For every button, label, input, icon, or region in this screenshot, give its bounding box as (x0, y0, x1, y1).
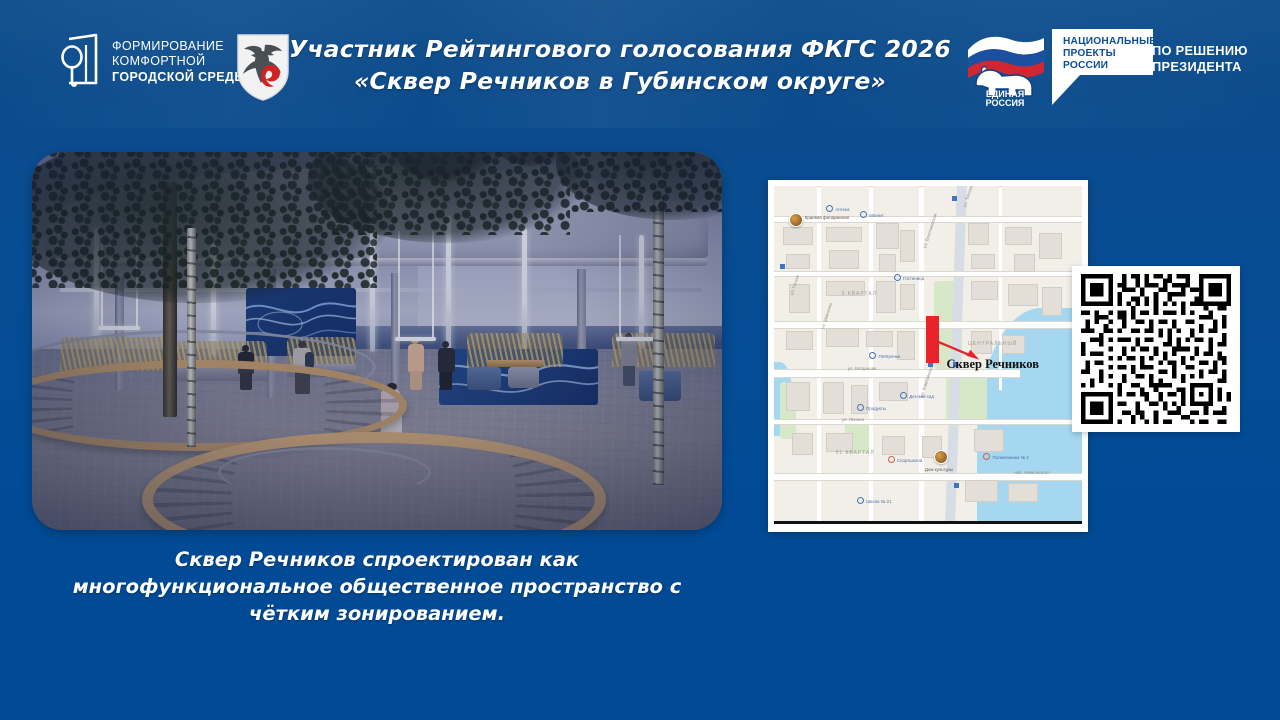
fkgs-logo-text: ФОРМИРОВАНИЕ КОМФОРТНОЙ ГОРОДСКОЙ СРЕДЫ (112, 39, 247, 86)
map-photo-pin[interactable] (934, 450, 948, 464)
qr-code-icon[interactable] (1080, 274, 1232, 424)
project-render-image (32, 152, 722, 530)
united-russia-bear-logo-icon: ЕДИНАЯ РОССИЯ (962, 28, 1048, 106)
map-poi[interactable]: Спортшкола (888, 456, 922, 463)
title-line-2: «Сквер Речников в Губинском округе» (285, 65, 955, 97)
map-poi[interactable]: Магнит (860, 211, 884, 218)
map-pin-label: Краевая филармония (805, 215, 849, 220)
render-bench-railing (218, 447, 431, 498)
render-swing-seat (98, 326, 139, 330)
poi-dot-icon (869, 352, 876, 359)
map-poi[interactable]: Поликлиника № 2 (983, 453, 1028, 460)
np-line-1: НАЦИОНАЛЬНЫЕ (1063, 36, 1149, 48)
render-swing-seat (395, 337, 436, 341)
map-district-label: 5 КВАРТАЛ (842, 291, 877, 297)
render-swing-seat (616, 337, 657, 341)
coat-of-arms-shield-icon (234, 31, 292, 103)
render-swing-rope (398, 231, 400, 337)
poi-dot-icon (888, 456, 895, 463)
render-person (436, 341, 458, 390)
map-street-label: наб. Невельского (1014, 470, 1049, 475)
poi-dot-icon (983, 453, 990, 460)
header-bar: ФОРМИРОВАНИЕ КОМФОРТНОЙ ГОРОДСКОЙ СРЕДЫ (0, 0, 1280, 128)
render-swing-rope (432, 231, 434, 337)
map-transit-marker (780, 264, 785, 269)
location-map[interactable]: ул. Гоголя ул. Шевченко ул. Волочаевская… (768, 180, 1088, 532)
map-site-label: Сквер Речников (946, 357, 1039, 372)
poi-dot-icon (900, 392, 907, 399)
map-road (774, 419, 1082, 425)
render-wood-bench (487, 360, 542, 368)
map-bottom-bar (774, 521, 1082, 524)
render-stool (508, 367, 539, 388)
map-poi[interactable]: Детский сад (900, 392, 934, 399)
project-description-caption: Сквер Речников спроектирован как многофу… (40, 546, 714, 627)
map-transit-marker (952, 196, 957, 201)
poi-dot-icon (860, 211, 867, 218)
map-poi[interactable]: Пятёрочка (869, 352, 900, 359)
poi-dot-icon (826, 205, 833, 212)
render-birch-trunk (187, 228, 196, 447)
fkgs-line-2: КОМФОРТНОЙ (112, 54, 247, 70)
map-district-label: 51 КВАРТАЛ (836, 450, 875, 456)
map-photo-pin[interactable] (789, 213, 803, 227)
map-poi[interactable]: Школа № 21 (857, 497, 891, 504)
poi-dot-icon (894, 274, 901, 281)
united-russia-line2: РОССИЯ (986, 98, 1025, 106)
map-street-label: ул. Богданова (848, 366, 876, 371)
voting-qr-code[interactable] (1072, 266, 1240, 432)
caption-line-1: Сквер Речников спроектирован как (40, 546, 714, 573)
map-poi[interactable]: Продукты (857, 404, 886, 411)
president-line-2: ПРЕЗИДЕНТА (1152, 59, 1248, 75)
title-line-1: Участник Рейтингового голосования ФКГС 2… (285, 33, 955, 65)
map-poi[interactable]: Гостиница (894, 274, 924, 281)
map-street-label: ул. Ленина (842, 417, 864, 422)
np-line-3: РОССИИ (1063, 60, 1149, 72)
render-person (405, 337, 428, 390)
render-person (619, 333, 641, 386)
fkgs-line-3: ГОРОДСКОЙ СРЕДЫ (112, 70, 247, 86)
slide-root: ФОРМИРОВАНИЕ КОМФОРТНОЙ ГОРОДСКОЙ СРЕДЫ (0, 0, 1280, 720)
render-swing-rope (619, 235, 621, 337)
door-key-icon (56, 33, 102, 91)
national-projects-logo-text: НАЦИОНАЛЬНЫЕ ПРОЕКТЫ РОССИИ (1063, 36, 1149, 71)
map-canvas[interactable]: ул. Гоголя ул. Шевченко ул. Волочаевская… (774, 186, 1082, 524)
render-stool (467, 367, 502, 390)
caption-line-2: многофункциональное общественное простра… (40, 573, 714, 600)
poi-dot-icon (857, 404, 864, 411)
president-line-1: ПО РЕШЕНИЮ (1152, 43, 1248, 59)
fkgs-logo: ФОРМИРОВАНИЕ КОМФОРТНОЙ ГОРОДСКОЙ СРЕДЫ (56, 33, 247, 91)
render-light-pole (639, 235, 644, 348)
fkgs-line-1: ФОРМИРОВАНИЕ (112, 39, 247, 55)
map-transit-marker (954, 483, 959, 488)
map-poi[interactable]: Аптека (826, 205, 849, 212)
render-canvas (32, 152, 722, 530)
np-line-2: ПРОЕКТЫ (1063, 48, 1149, 60)
president-decision-text: ПО РЕШЕНИЮ ПРЕЗИДЕНТА (1152, 43, 1248, 75)
page-title: Участник Рейтингового голосования ФКГС 2… (285, 33, 955, 97)
caption-line-3: чётким зонированием. (40, 600, 714, 627)
render-tree-leaves (570, 152, 722, 212)
render-bench-railing (32, 330, 376, 404)
poi-dot-icon (857, 497, 864, 504)
map-pin-label: Дом культуры (925, 467, 953, 472)
render-birch-trunk (653, 197, 664, 484)
map-road (774, 271, 1082, 277)
